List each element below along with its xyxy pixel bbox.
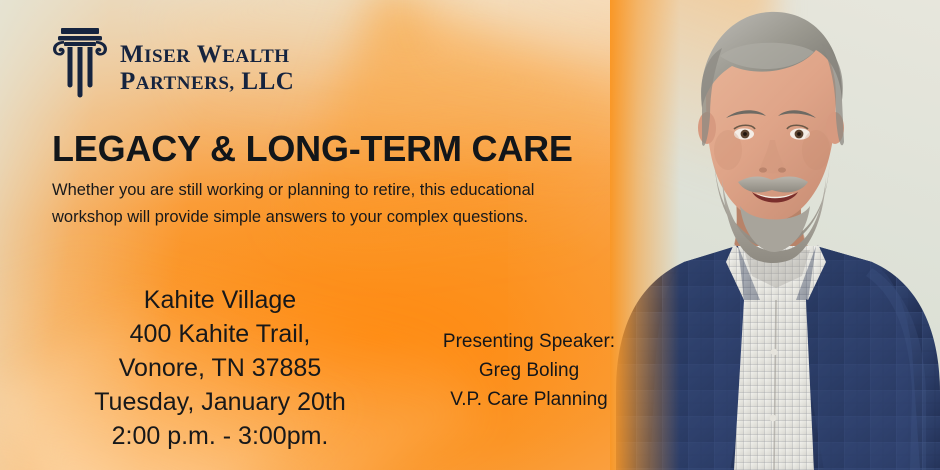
brand-logo[interactable]: MISER WEALTH PARTNERS, LLC <box>52 26 294 110</box>
page-title: LEGACY & LONG-TERM CARE <box>52 128 573 170</box>
venue-block: Kahite Village 400 Kahite Trail, Vonore,… <box>44 283 396 453</box>
event-time: 2:00 p.m. - 3:00pm. <box>44 419 396 453</box>
venue-street: 400 Kahite Trail, <box>44 317 396 351</box>
venue-city-state-zip: Vonore, TN 37885 <box>44 351 396 385</box>
brand-wordmark: MISER WEALTH PARTNERS, LLC <box>120 42 294 95</box>
brand-line-1: MISER WEALTH <box>120 42 294 68</box>
event-date: Tuesday, January 20th <box>44 385 396 419</box>
portrait-figure <box>610 0 940 470</box>
speaker-title: V.P. Care Planning <box>404 386 654 415</box>
brand-line-2: PARTNERS, LLC <box>120 69 294 95</box>
speaker-portrait <box>610 0 940 470</box>
description-text: Whether you are still working or plannin… <box>52 177 552 230</box>
venue-name: Kahite Village <box>44 283 396 317</box>
speaker-block: Presenting Speaker: Greg Boling V.P. Car… <box>404 328 654 415</box>
speaker-label: Presenting Speaker: <box>404 328 654 357</box>
ionic-column-icon <box>52 26 108 110</box>
speaker-name: Greg Boling <box>404 357 654 386</box>
event-banner: MISER WEALTH PARTNERS, LLC LEGACY & LONG… <box>0 0 940 470</box>
